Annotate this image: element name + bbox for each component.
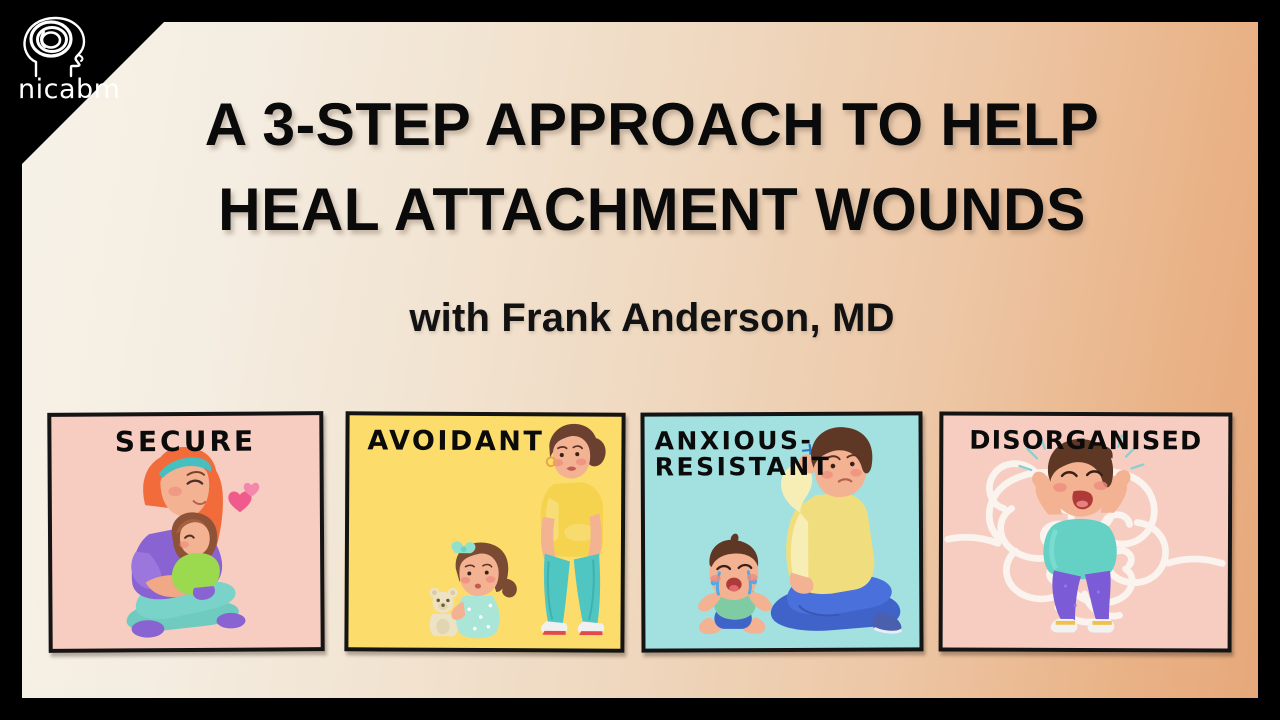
panel-anxious-resistant: ANXIOUS- RESISTANT — [640, 411, 923, 652]
panel-avoidant: AVOIDANT — [344, 411, 625, 652]
head-brain-spiral-icon — [14, 14, 134, 80]
attachment-style-panels: SECURE — [48, 412, 1232, 664]
nicabm-wordmark: nicabm — [18, 76, 120, 103]
page-title: A 3-STEP APPROACH TO HELP HEAL ATTACHMEN… — [115, 82, 1189, 252]
stressed-man-kneeling-with-crying-baby-illustration — [644, 415, 919, 648]
slide-canvas: nicabm A 3-STEP APPROACH TO HELP HEAL AT… — [0, 0, 1280, 720]
panel-disorganised: DISORGANISED — [939, 411, 1233, 652]
presenter-subtitle: with Frank Anderson, MD — [104, 296, 1200, 341]
title-line-1: A 3-STEP APPROACH TO HELP — [115, 82, 1189, 167]
mother-hugging-child-illustration — [51, 415, 320, 649]
boy-in-tangled-scribble-illustration — [943, 416, 1229, 649]
title-line-2: HEAL ATTACHMENT WOUNDS — [115, 167, 1189, 252]
woman-standing-away-from-girl-with-teddy-illustration — [348, 415, 621, 648]
panel-secure: SECURE — [47, 411, 324, 653]
